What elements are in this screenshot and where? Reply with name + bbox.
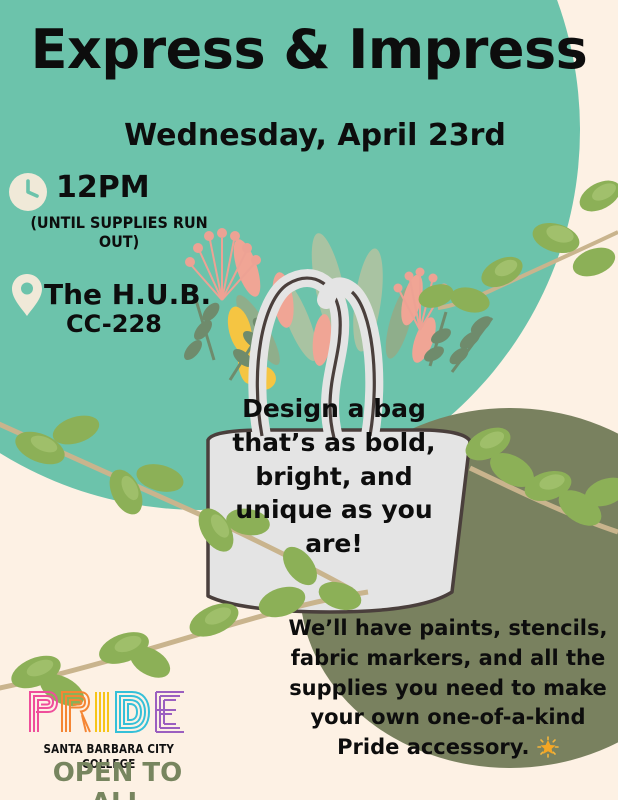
supplies-description: We’ll have paints, stencils, fabric mark… [288,614,608,763]
clock-icon [8,172,48,217]
logo-letter-r [62,692,90,732]
poster-date: Wednesday, April 23rd [80,118,550,153]
branch-top-right [415,174,618,316]
branch-right-olive [460,421,618,533]
poster-title: Express & Impress [0,22,618,79]
location-pin-icon [10,272,44,323]
supplies-note: (UNTIL SUPPLIES RUN OUT) [24,214,214,252]
event-room: CC-228 [66,310,162,338]
logo-letter-i [96,692,108,732]
supplies-text: We’ll have paints, stencils, fabric mark… [289,616,608,759]
logo-letter-d [116,692,149,732]
event-location: The H.U.B. [44,278,211,311]
logo-letter-e [156,692,184,732]
logo-letter-p [30,692,57,732]
open-to-all-tagline: OPEN TO ALL [30,758,205,800]
poster-canvas: Express & Impress Wednesday, April 23rd … [0,0,618,800]
bag-message: Design a bag that’s as bold, bright, and… [218,392,450,561]
pride-wordmark [26,688,206,734]
event-time: 12PM [56,170,150,205]
sparkle-star-icon [537,735,559,759]
